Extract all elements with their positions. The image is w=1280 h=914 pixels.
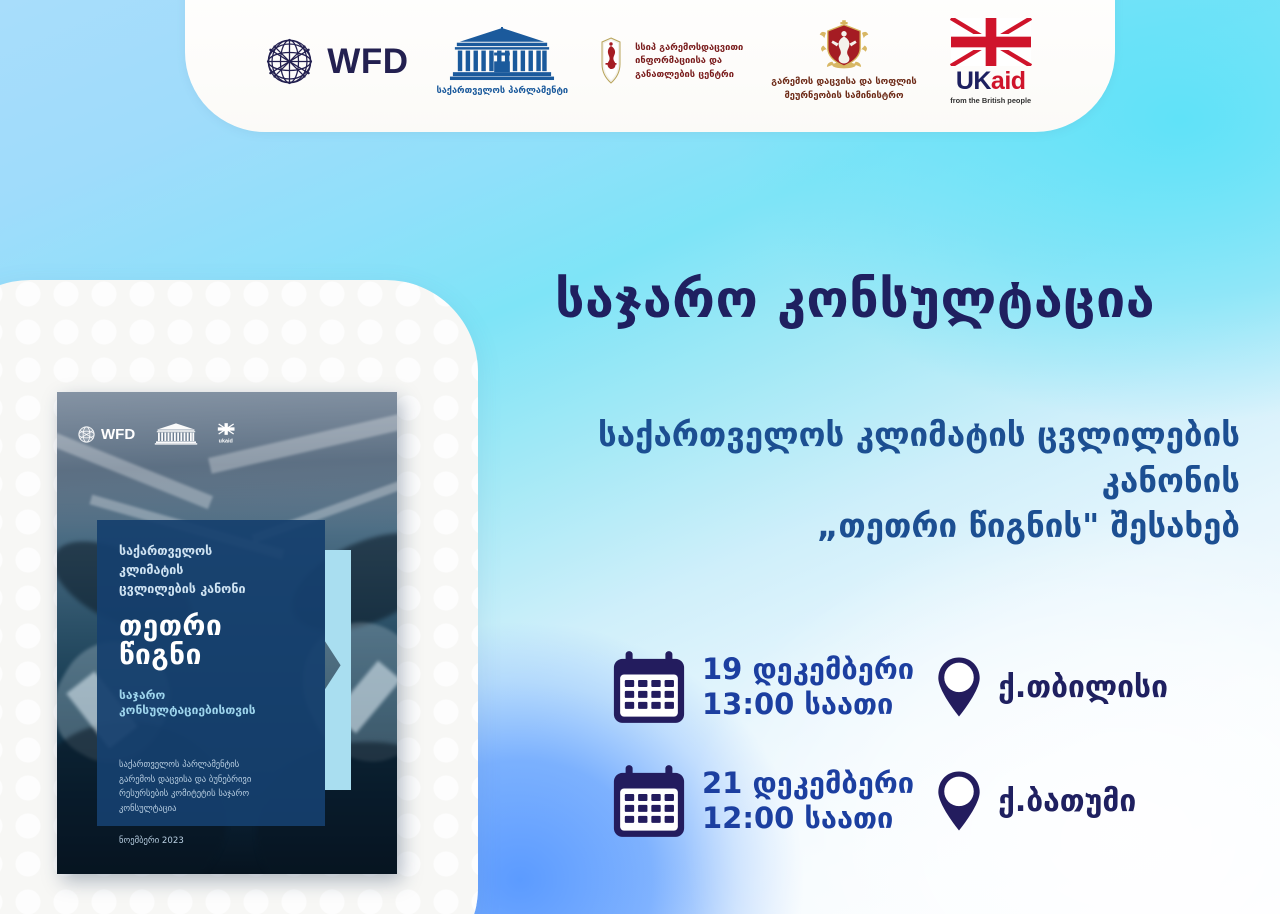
book-body-text: საქართველოს პარლამენტის გარემოს დაცვისა … <box>119 758 311 816</box>
main-content: საჯარო კონსულტაცია საქართველოს კლიმატის … <box>470 0 1280 914</box>
book-body-line: რესურსების კომიტეტის საჯარო <box>119 787 311 802</box>
event-location: ქ.ბათუმი <box>998 784 1136 819</box>
event-time: 12:00 საათი <box>702 801 914 836</box>
book-pre-title-line: საქართველოს <box>119 542 309 561</box>
book-cover-logos: WFD <box>77 422 377 446</box>
wfd-wordmark: WFD <box>327 44 408 79</box>
book-body-line: საქართველოს პარლამენტის <box>119 758 311 773</box>
event-date: 19 დეკემბერი <box>702 652 914 687</box>
book-pre-title: საქართველოს კლიმატის ცვლილების კანონი <box>119 542 309 598</box>
book-pre-title-line: კლიმატის <box>119 561 309 580</box>
book-subtitle-line: საჯარო <box>119 688 317 703</box>
page-subtitle: საქართველოს კლიმატის ცვლილების კანონის „… <box>480 412 1240 549</box>
events-list: 19 დეკემბერი 13:00 საათი ქ.თბილისი <box>610 648 1250 876</box>
svg-text:ukaid: ukaid <box>219 438 233 444</box>
calendar-icon <box>610 762 688 840</box>
subtitle-line: „თეთრი წიგნის" შესახებ <box>480 503 1240 549</box>
subtitle-line: კანონის <box>480 458 1240 504</box>
map-pin-icon <box>936 656 982 718</box>
event-item: 19 დეკემბერი 13:00 საათი ქ.თბილისი <box>610 648 1250 726</box>
book-date: ნოემბერი 2023 <box>119 836 184 846</box>
book-pre-title-line: ცვლილების კანონი <box>119 580 309 599</box>
event-date: 21 დეკემბერი <box>702 766 914 801</box>
globe-wireframe-icon <box>263 35 316 88</box>
calendar-icon <box>610 648 688 726</box>
book-wfd-wordmark: WFD <box>101 426 135 443</box>
book-logo-wfd: WFD <box>77 425 135 444</box>
book-main-title-line: წიგნი <box>119 641 315 670</box>
book-subtitle-line: კონსულტაციებისთვის <box>119 703 317 718</box>
event-time: 13:00 საათი <box>702 687 914 722</box>
event-datetime: 21 დეკემბერი 12:00 საათი <box>702 766 914 837</box>
event-location: ქ.თბილისი <box>998 670 1168 705</box>
subtitle-line: საქართველოს კლიმატის ცვლილების <box>480 412 1240 458</box>
book-main-title: თეთრი წიგნი <box>119 612 315 669</box>
ukaid-icon: ukaid <box>217 422 242 446</box>
event-item: 21 დეკემბერი 12:00 საათი ქ.ბათუმი <box>610 762 1250 840</box>
book-cover-image: WFD <box>57 392 397 874</box>
book-body-line: გარემოს დაცვისა და ბუნებრივი <box>119 773 311 788</box>
logo-wfd: WFD <box>263 35 408 88</box>
page-title: საჯარო კონსულტაცია <box>470 272 1240 329</box>
book-subtitle: საჯარო კონსულტაციებისთვის <box>119 688 317 718</box>
book-body-line: კონსულტაცია <box>119 802 311 817</box>
book-cover-tab-shape <box>325 550 351 790</box>
map-pin-icon <box>936 770 982 832</box>
book-main-title-line: თეთრი <box>119 612 315 641</box>
globe-wireframe-icon <box>77 425 96 444</box>
parliament-building-icon <box>151 423 201 445</box>
event-datetime: 19 დეკემბერი 13:00 საათი <box>702 652 914 723</box>
book-cover-text-panel: საქართველოს კლიმატის ცვლილების კანონი თე… <box>97 520 325 826</box>
